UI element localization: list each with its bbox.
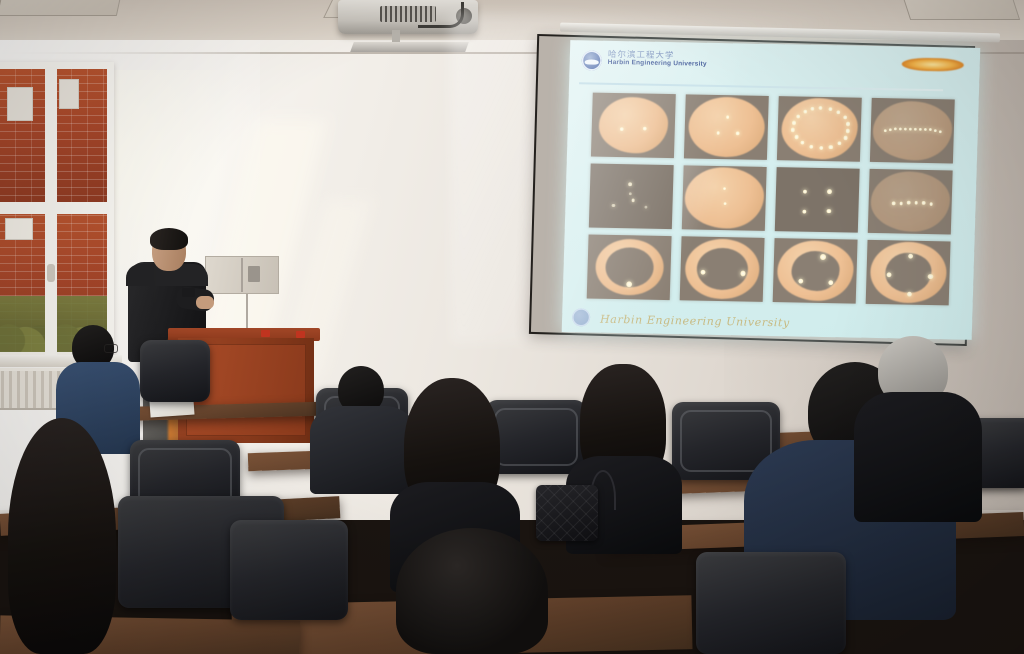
slide-cell <box>680 236 765 302</box>
slide-cell <box>868 169 953 235</box>
slide-cell <box>773 238 858 304</box>
window-pane <box>0 212 47 352</box>
slide-cell <box>587 235 672 301</box>
audience-head <box>8 418 116 654</box>
panel-socket <box>248 266 260 282</box>
projector-ceiling-plate <box>350 42 469 52</box>
university-crest-logo <box>581 50 602 70</box>
window-pane <box>55 69 107 204</box>
university-crest-logo-footer <box>572 308 591 326</box>
projector-cable <box>418 2 464 28</box>
presenter-hair <box>150 228 188 250</box>
slide-cell <box>870 98 955 164</box>
exterior-window <box>59 79 79 109</box>
classroom-window <box>0 62 114 362</box>
slide-footer-text: Harbin Engineering University <box>600 313 790 330</box>
window-handle[interactable] <box>47 264 55 282</box>
slide-footer: Harbin Engineering University <box>572 302 963 335</box>
ceiling-tile <box>900 0 1020 20</box>
quilted-handbag[interactable] <box>536 485 598 541</box>
exterior-window <box>7 87 33 121</box>
slide-cell <box>684 94 769 160</box>
classroom-lecture-photo: 哈尔滨工程大学 Harbin Engineering University <box>0 0 1024 654</box>
slide-image-grid <box>587 93 955 306</box>
slide-cell <box>682 165 767 231</box>
audience-torso <box>854 392 982 522</box>
lectern-button[interactable] <box>296 331 305 338</box>
slide-cell <box>777 96 862 162</box>
office-chair[interactable] <box>140 340 210 402</box>
exterior-window <box>5 218 33 240</box>
slide-cell <box>775 167 860 233</box>
slide-cell <box>591 93 676 159</box>
presentation-remote-clicker[interactable] <box>182 288 195 297</box>
window-mullion <box>0 202 109 214</box>
office-chair[interactable] <box>230 520 348 620</box>
audience-head <box>396 528 548 654</box>
office-chair[interactable] <box>696 552 846 654</box>
slide-cell <box>866 240 951 306</box>
orange-emblem-graphic <box>902 57 964 71</box>
slide-institution-en: Harbin Engineering University <box>608 59 707 68</box>
panel-divider <box>241 258 243 292</box>
projected-slide: 哈尔滨工程大学 Harbin Engineering University <box>562 40 981 340</box>
lectern-button[interactable] <box>261 330 270 337</box>
eyeglasses <box>104 344 118 353</box>
presenter-hand <box>196 296 214 309</box>
ceiling-tile <box>0 0 123 16</box>
audience-torso <box>310 406 416 494</box>
window-pane <box>0 69 47 204</box>
chair-frame <box>494 408 578 466</box>
slide-cell <box>589 164 674 230</box>
foliage <box>0 296 47 352</box>
